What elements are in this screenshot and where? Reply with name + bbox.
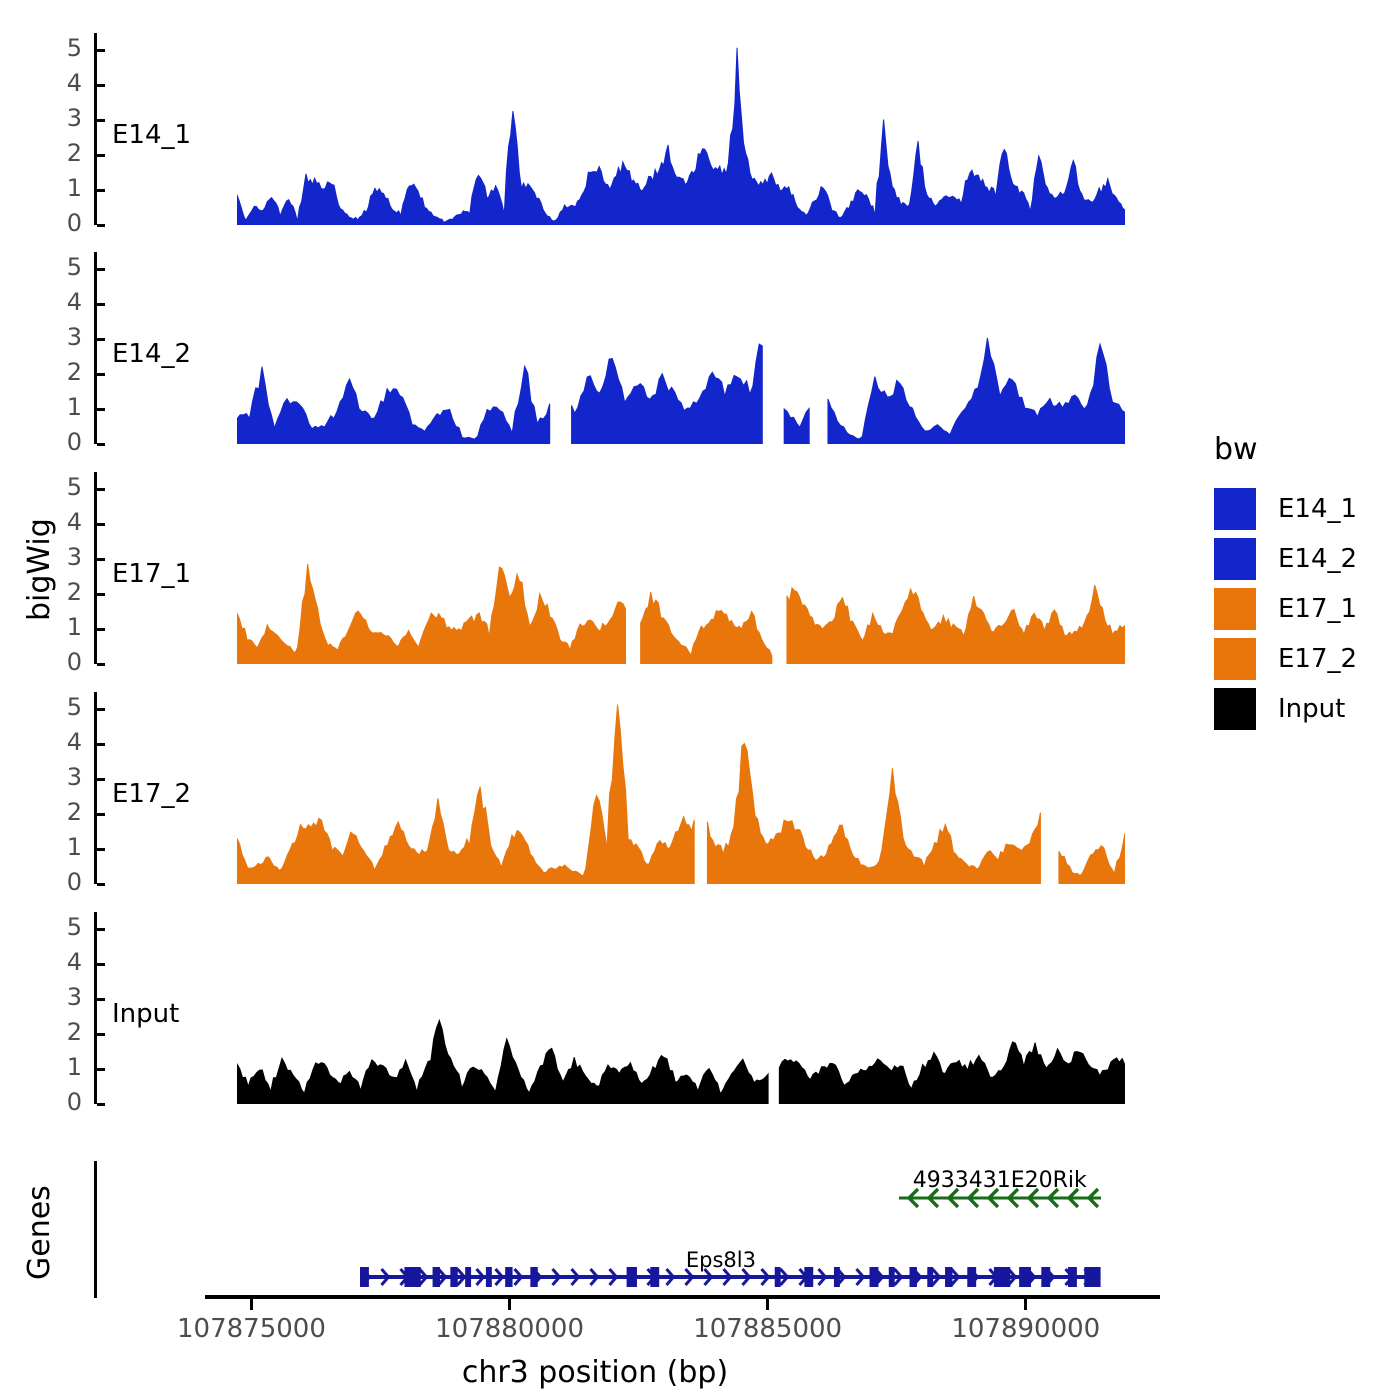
y-tick-label: 4 [42,948,82,976]
y-tick-label: 3 [42,104,82,132]
y-tick [97,848,105,851]
y-tick [97,663,105,666]
y-axis-spine [94,912,97,1104]
y-axis-spine [94,252,97,444]
x-tick [1024,1299,1027,1310]
genes-axis-title: Genes [22,1165,57,1300]
y-tick-label: 5 [42,34,82,62]
y-tick-label: 4 [42,69,82,97]
y-tick [97,1033,105,1036]
legend-label-input: Input [1278,694,1345,724]
y-tick-label: 2 [42,578,82,606]
track-panel-e17_1: 012345E17_1 [94,472,1160,664]
y-axis-spine [94,472,97,664]
x-tick [766,1299,769,1310]
legend-item-input[interactable]: Input [1214,685,1357,733]
y-tick [97,49,105,52]
y-tick-label: 1 [42,393,82,421]
y-tick-label: 4 [42,508,82,536]
y-tick [97,813,105,816]
legend-swatch-e14_2 [1214,538,1256,580]
legend-item-e14_1[interactable]: E14_1 [1214,485,1357,533]
y-tick-label: 1 [42,174,82,202]
y-tick [97,373,105,376]
legend-label-e14_1: E14_1 [1278,494,1357,524]
track-panel-input: 012345Input [94,912,1160,1104]
y-tick-label: 3 [42,323,82,351]
track-label-input: Input [112,999,179,1029]
signal-area-input [237,912,1125,1104]
y-tick [97,1068,105,1071]
x-tick-label: 107880000 [400,1314,620,1344]
y-tick [97,523,105,526]
signal-area-e14_1 [237,33,1125,225]
legend-swatch-e17_2 [1214,638,1256,680]
y-tick-label: 1 [42,1053,82,1081]
legend-item-e14_2[interactable]: E14_2 [1214,535,1357,583]
y-tick [97,189,105,192]
y-tick-label: 3 [42,543,82,571]
legend: bw E14_1E14_2E17_1E17_2Input [1214,432,1357,735]
y-tick [97,558,105,561]
y-tick-label: 3 [42,763,82,791]
y-tick [97,408,105,411]
legend-label-e17_2: E17_2 [1278,644,1357,674]
track-label-e14_1: E14_1 [112,120,191,150]
y-tick-label: 2 [42,798,82,826]
signal-area-e17_1 [237,472,1125,664]
legend-title: bw [1214,432,1357,467]
x-tick-label: 107875000 [141,1314,361,1344]
y-tick-label: 2 [42,358,82,386]
y-tick [97,998,105,1001]
x-tick [250,1299,253,1310]
y-tick [97,303,105,306]
track-label-e14_2: E14_2 [112,339,191,369]
y-tick [97,883,105,886]
y-axis-spine [94,692,97,884]
y-tick-label: 0 [42,428,82,456]
y-tick [97,708,105,711]
y-tick [97,224,105,227]
y-tick [97,443,105,446]
legend-label-e17_1: E17_1 [1278,594,1357,624]
x-tick [508,1299,511,1310]
y-tick [97,1103,105,1106]
y-tick-label: 5 [42,913,82,941]
x-axis-title: chr3 position (bp) [0,1355,1190,1390]
legend-swatch-input [1214,688,1256,730]
legend-item-e17_1[interactable]: E17_1 [1214,585,1357,633]
gene-label-Eps8l3: Eps8l3 [521,1248,921,1272]
y-axis-spine [94,33,97,225]
y-tick [97,268,105,271]
y-tick [97,119,105,122]
y-tick [97,338,105,341]
genes-axis-line [94,1161,97,1298]
track-panel-e17_2: 012345E17_2 [94,692,1160,884]
track-label-e17_2: E17_2 [112,779,191,809]
y-tick [97,928,105,931]
y-tick-label: 5 [42,693,82,721]
legend-items: E14_1E14_2E17_1E17_2Input [1214,485,1357,733]
gene-label-4933431E20Rik: 4933431E20Rik [800,1168,1200,1193]
x-tick-label: 107890000 [916,1314,1136,1344]
track-panel-e14_2: 012345E14_2 [94,252,1160,444]
y-tick-label: 0 [42,1088,82,1116]
x-tick-label: 107885000 [658,1314,878,1344]
track-panel-e14_1: 012345E14_1 [94,33,1160,225]
y-tick-label: 0 [42,648,82,676]
y-tick-label: 1 [42,613,82,641]
y-tick-label: 3 [42,983,82,1011]
legend-swatch-e17_1 [1214,588,1256,630]
legend-label-e14_2: E14_2 [1278,544,1357,574]
y-tick-label: 1 [42,833,82,861]
signal-area-e14_2 [237,252,1125,444]
y-tick [97,593,105,596]
x-axis-line [205,1295,1160,1299]
y-tick-label: 2 [42,1018,82,1046]
y-tick [97,488,105,491]
y-tick [97,154,105,157]
y-tick [97,628,105,631]
y-tick-label: 5 [42,473,82,501]
y-tick-label: 5 [42,253,82,281]
y-tick [97,743,105,746]
y-tick-label: 4 [42,288,82,316]
y-tick-label: 0 [42,209,82,237]
y-tick-label: 2 [42,139,82,167]
y-tick-label: 4 [42,728,82,756]
y-tick [97,84,105,87]
y-tick-label: 0 [42,868,82,896]
track-label-e17_1: E17_1 [112,559,191,589]
legend-swatch-e14_1 [1214,488,1256,530]
y-tick [97,963,105,966]
y-tick [97,778,105,781]
signal-area-e17_2 [237,692,1125,884]
legend-item-e17_2[interactable]: E17_2 [1214,635,1357,683]
